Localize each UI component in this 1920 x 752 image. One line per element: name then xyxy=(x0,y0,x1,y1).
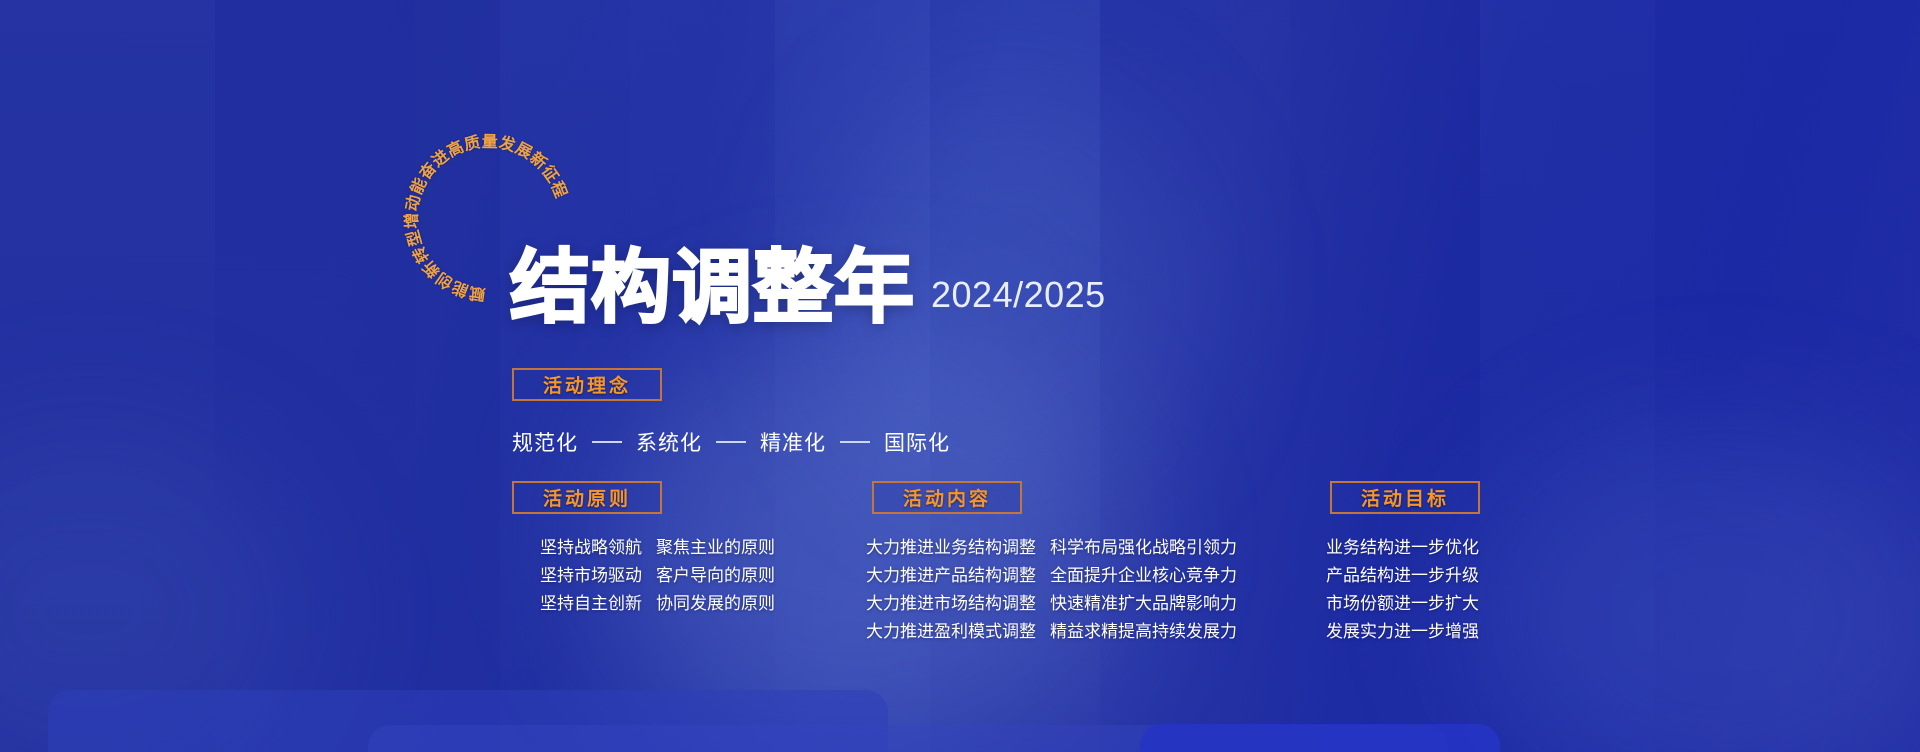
list-item: 大力推进业务结构调整 科学布局强化战略引领力 xyxy=(866,534,1237,562)
concept-separator-icon xyxy=(592,441,622,443)
title-years: 2024/2025 xyxy=(931,274,1106,316)
concept-separator-icon xyxy=(840,441,870,443)
list-item: 业务结构进一步优化 xyxy=(1326,534,1479,562)
list-item: 坚持战略领航 聚焦主业的原则 xyxy=(540,534,775,562)
row-secondary: 快速精准扩大品牌影响力 xyxy=(1050,590,1237,618)
bg-shape-rect xyxy=(1140,724,1500,752)
row-secondary: 协同发展的原则 xyxy=(656,590,775,618)
column-goals: 业务结构进一步优化 产品结构进一步升级 市场份额进一步扩大 发展实力进一步增强 xyxy=(1326,534,1479,646)
list-item: 大力推进盈利模式调整 精益求精提高持续发展力 xyxy=(866,618,1237,646)
row-primary: 大力推进产品结构调整 xyxy=(866,562,1036,590)
bg-glow xyxy=(1480,430,1920,752)
badge-principles[interactable]: 活动原则 xyxy=(512,481,662,514)
row-secondary: 科学布局强化战略引领力 xyxy=(1050,534,1237,562)
title-block: 结构调整年 2024/2025 xyxy=(510,250,1106,326)
bg-band xyxy=(1655,0,1920,752)
row-secondary: 客户导向的原则 xyxy=(656,562,775,590)
concept-item: 国际化 xyxy=(884,427,950,457)
seal-char: 量 xyxy=(482,128,499,152)
bg-glow xyxy=(0,430,300,752)
list-item: 市场份额进一步扩大 xyxy=(1326,590,1479,618)
bg-band xyxy=(0,0,215,752)
row-primary: 市场份额进一步扩大 xyxy=(1326,590,1479,618)
row-primary: 大力推进业务结构调整 xyxy=(866,534,1036,562)
badge-concept[interactable]: 活动理念 xyxy=(512,368,662,401)
list-item: 坚持市场驱动 客户导向的原则 xyxy=(540,562,775,590)
column-content: 大力推进业务结构调整 科学布局强化战略引领力 大力推进产品结构调整 全面提升企业… xyxy=(866,534,1237,646)
concept-item: 系统化 xyxy=(636,427,702,457)
bg-shape-rect xyxy=(368,725,1448,752)
row-secondary: 精益求精提高持续发展力 xyxy=(1050,618,1237,646)
row-primary: 产品结构进一步升级 xyxy=(1326,562,1479,590)
badge-goals[interactable]: 活动目标 xyxy=(1330,481,1480,514)
bg-band xyxy=(1480,0,1655,752)
list-item: 坚持自主创新 协同发展的原则 xyxy=(540,590,775,618)
banner-root: 赋能创新转型增动能奋进高质量发展新征程 结构调整年 2024/2025 活动理念… xyxy=(0,0,1920,752)
list-item: 大力推进产品结构调整 全面提升企业核心竞争力 xyxy=(866,562,1237,590)
row-primary: 坚持自主创新 xyxy=(540,590,642,618)
row-secondary: 全面提升企业核心竞争力 xyxy=(1050,562,1237,590)
list-item: 大力推进市场结构调整 快速精准扩大品牌影响力 xyxy=(866,590,1237,618)
row-primary: 业务结构进一步优化 xyxy=(1326,534,1479,562)
row-primary: 大力推进市场结构调整 xyxy=(866,590,1036,618)
badge-content[interactable]: 活动内容 xyxy=(872,481,1022,514)
row-secondary: 聚焦主业的原则 xyxy=(656,534,775,562)
list-item: 发展实力进一步增强 xyxy=(1326,618,1479,646)
column-principles: 坚持战略领航 聚焦主业的原则 坚持市场驱动 客户导向的原则 坚持自主创新 协同发… xyxy=(540,534,775,618)
concept-separator-icon xyxy=(716,441,746,443)
page-title: 结构调整年 xyxy=(510,250,915,326)
row-primary: 坚持市场驱动 xyxy=(540,562,642,590)
row-primary: 坚持战略领航 xyxy=(540,534,642,562)
row-primary: 发展实力进一步增强 xyxy=(1326,618,1479,646)
concept-list: 规范化 系统化 精准化 国际化 xyxy=(512,427,950,457)
bg-shape-rect xyxy=(48,690,888,752)
list-item: 产品结构进一步升级 xyxy=(1326,562,1479,590)
seal-char: 赋 xyxy=(468,282,487,308)
concept-item: 规范化 xyxy=(512,427,578,457)
seal-char: 增 xyxy=(398,212,423,229)
row-primary: 大力推进盈利模式调整 xyxy=(866,618,1036,646)
bg-band xyxy=(215,0,415,752)
concept-item: 精准化 xyxy=(760,427,826,457)
